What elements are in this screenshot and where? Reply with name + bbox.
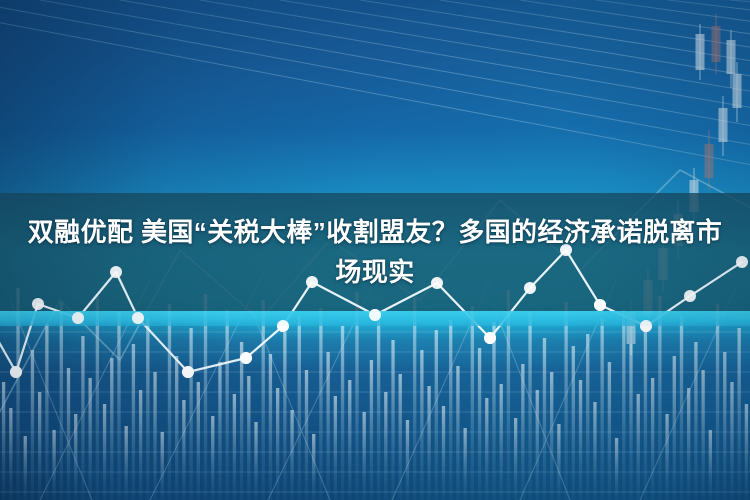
headline-line-1: 双融优配 美国“关税大棒”收割盟友？多国的经济承诺脱离市 bbox=[14, 212, 736, 252]
headline-text: 双融优配 美国“关税大棒”收割盟友？多国的经济承诺脱离市 场现实 bbox=[0, 212, 750, 292]
hero-banner: 双融优配 美国“关税大棒”收割盟友？多国的经济承诺脱离市 场现实 bbox=[0, 0, 750, 500]
headline-line-2: 场现实 bbox=[14, 252, 736, 292]
